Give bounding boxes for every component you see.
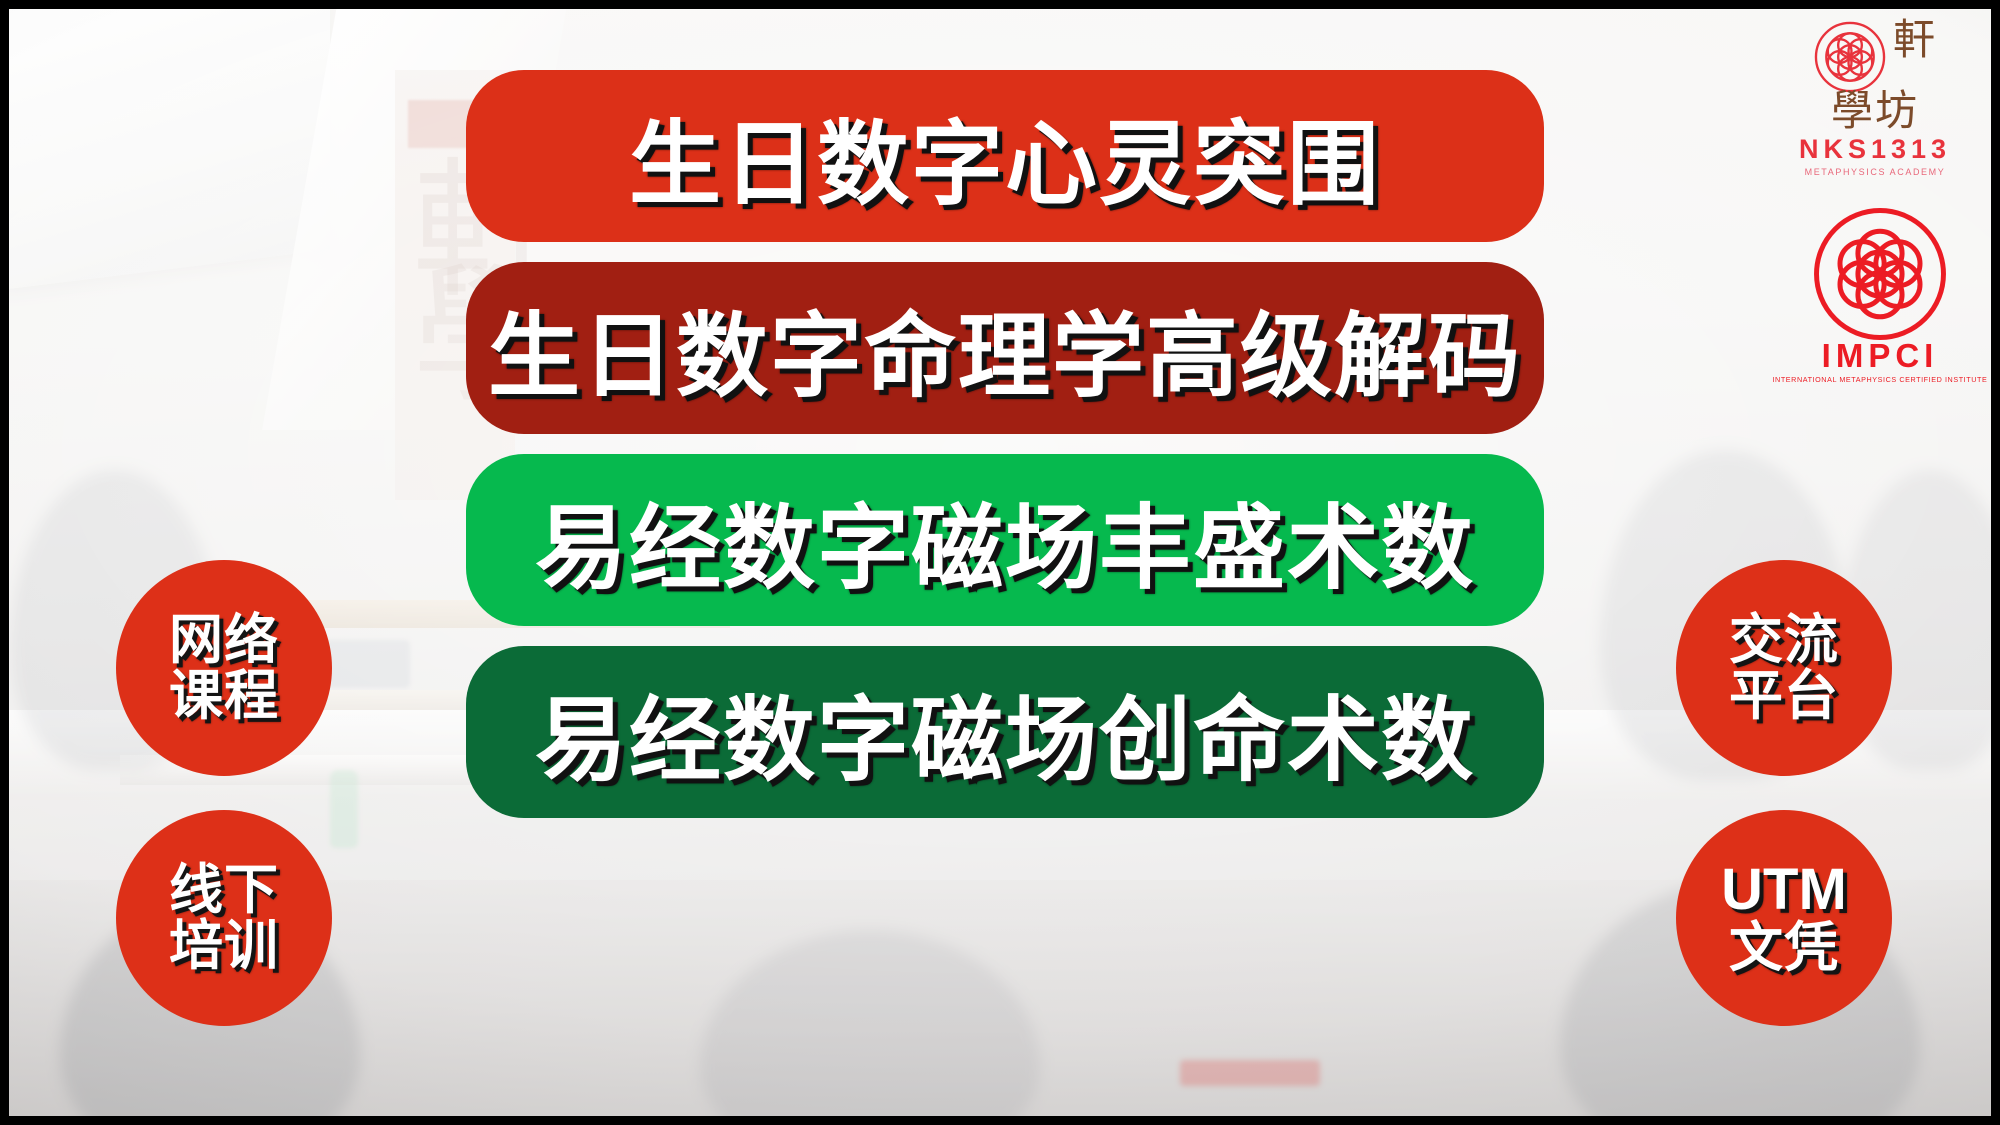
badge-online-course[interactable]: 网络 课程 [116,560,332,776]
course-bar-1-label: 生日数字心灵突围 [629,90,1381,223]
impci-logo-subtitle: INTERNATIONAL METAPHYSICS CERTIFIED INST… [1773,375,1988,384]
impci-logo: IMPCI INTERNATIONAL METAPHYSICS CERTIFIE… [1790,205,1970,385]
nks-logo-top-row: 軒 [1770,20,1980,94]
course-bar-1[interactable]: 生日数字心灵突围 [466,70,1544,242]
flower-of-life-icon [1811,205,1949,343]
badge-online-course-line1: 网络 [169,612,279,668]
badge-utm-certificate[interactable]: UTM 文凭 [1676,810,1892,1026]
badge-offline-training[interactable]: 线下 培训 [116,810,332,1026]
course-bar-list: 生日数字心灵突围 生日数字命理学高级解码 易经数字磁场丰盛术数 易经数字磁场创命… [466,70,1544,818]
badge-online-course-line2: 课程 [169,668,279,724]
nks-logo: 軒 學坊 NKS1313 METAPHYSICS ACADEMY [1770,20,1980,200]
badge-utm-certificate-line2: 文凭 [1729,920,1839,976]
flower-of-life-circle-icon [1813,20,1887,94]
course-bar-4[interactable]: 易经数字磁场创命术数 [466,646,1544,818]
nks-logo-name: NKS1313 [1799,134,1951,165]
poster-canvas: 軒學 生日数字心灵突围 生日数字命理学高级解码 易经数字磁场丰盛术数 易经数字磁… [0,0,2000,1125]
badge-community-platform[interactable]: 交流 平台 [1676,560,1892,776]
badge-community-platform-line1: 交流 [1729,612,1839,668]
impci-logo-name: IMPCI [1822,339,1939,372]
course-bar-4-label: 易经数字磁场创命术数 [535,666,1475,799]
course-bar-3[interactable]: 易经数字磁场丰盛术数 [466,454,1544,626]
badge-offline-training-line1: 线下 [169,862,279,918]
nks-logo-cjk-bottom: 學坊 [1831,90,1919,132]
nks-logo-subtitle: METAPHYSICS ACADEMY [1805,167,1946,177]
badge-community-platform-line2: 平台 [1729,668,1839,724]
course-bar-2-label: 生日数字命理学高级解码 [488,282,1522,415]
nks-logo-cjk-top: 軒 [1893,20,1937,60]
course-bar-3-label: 易经数字磁场丰盛术数 [535,474,1475,607]
course-bar-2[interactable]: 生日数字命理学高级解码 [466,262,1544,434]
badge-offline-training-line2: 培训 [169,918,279,974]
badge-utm-certificate-line1: UTM [1721,860,1847,920]
